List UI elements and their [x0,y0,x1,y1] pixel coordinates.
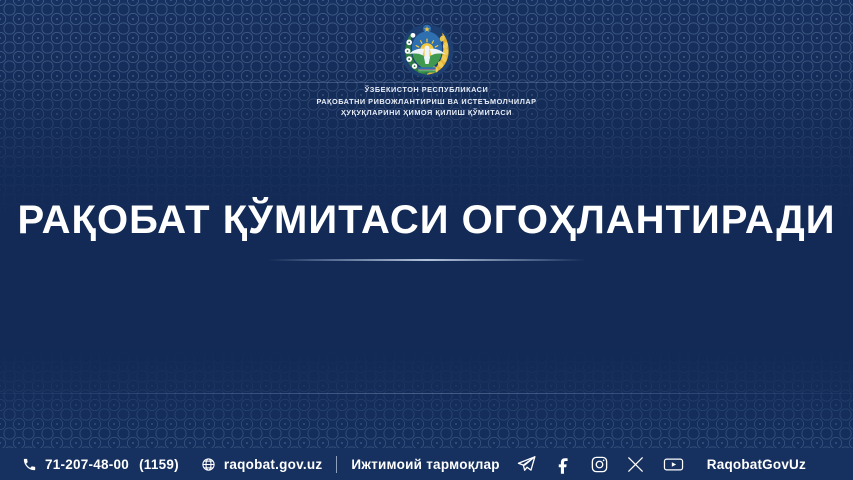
org-line-1: ЎЗБЕКИСТОН РЕСПУБЛИКАСИ [316,84,536,96]
org-line-3: ҲУҚУҚЛАРИНИ ҲИМОЯ ҚИЛИШ ҚЎМИТАСИ [316,107,536,119]
header: ЎЗБЕКИСТОН РЕСПУБЛИКАСИ РАҚОБАТНИ РИВОЖЛ… [0,0,853,140]
x-twitter-icon[interactable] [626,455,645,474]
phone-icon [22,457,37,472]
telegram-icon[interactable] [516,454,537,475]
headline-divider [268,259,586,261]
footer-bar: 71-207-48-00 (1159) raqobat.gov.uz Ижтим… [0,448,853,480]
youtube-icon[interactable] [662,453,685,476]
website-url: raqobat.gov.uz [224,457,323,472]
instagram-icon[interactable] [590,455,609,474]
page-title: РАҚОБАТ ҚЎМИТАСИ ОГОҲЛАНТИРАДИ [0,196,853,244]
phone-contact[interactable]: 71-207-48-00 (1159) [22,457,179,472]
organization-name: ЎЗБЕКИСТОН РЕСПУБЛИКАСИ РАҚОБАТНИ РИВОЖЛ… [316,84,536,119]
globe-icon [201,457,216,472]
uzbekistan-state-emblem-icon [400,24,454,78]
org-line-2: РАҚОБАТНИ РИВОЖЛАНТИРИШ ВА ИСТЕЪМОЛЧИЛАР [316,96,536,108]
header-divider [0,82,853,83]
phone-extension: (1159) [139,457,179,472]
social-networks-label: Ижтимоий тармоқлар [351,457,499,472]
phone-number: 71-207-48-00 [45,457,129,472]
social-icons-row [516,453,685,476]
footer-divider [0,393,853,394]
headline-block: РАҚОБАТ ҚЎМИТАСИ ОГОҲЛАНТИРАДИ [0,196,853,261]
footer-separator [336,456,337,473]
poster-canvas: ЎЗБЕКИСТОН РЕСПУБЛИКАСИ РАҚОБАТНИ РИВОЖЛ… [0,0,853,480]
facebook-icon[interactable] [554,455,573,474]
social-handle: RaqobatGovUz [707,457,806,472]
website-link[interactable]: raqobat.gov.uz [201,457,323,472]
